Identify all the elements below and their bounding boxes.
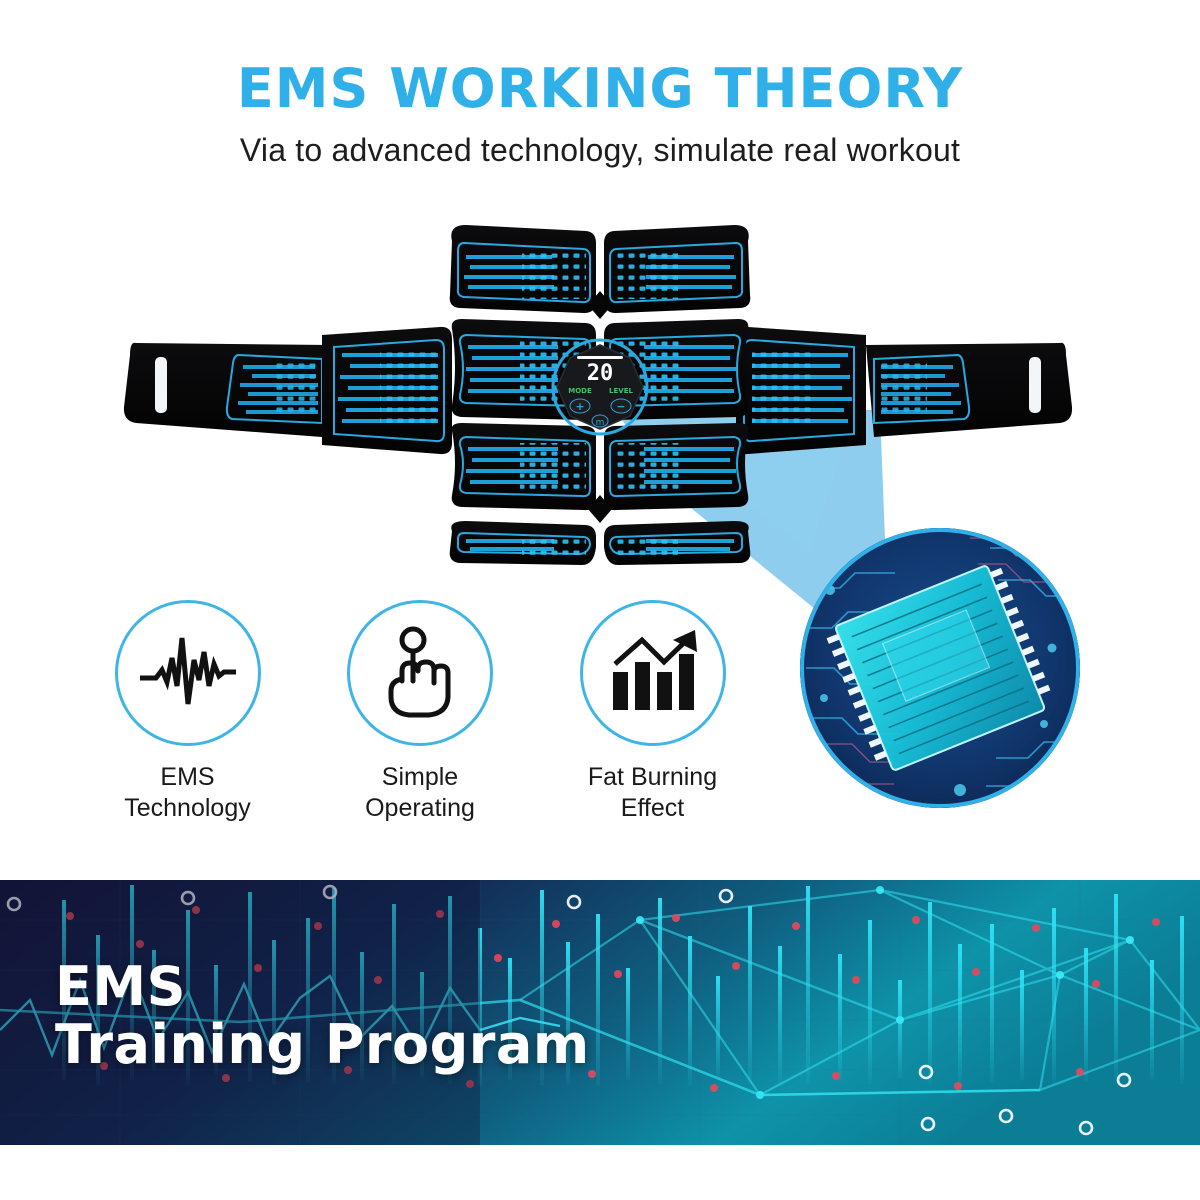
- svg-text:−: −: [616, 400, 625, 413]
- product-infographic: EMS WORKING THEORY Via to advanced techn…: [0, 0, 1200, 1200]
- right-arm-pad: [866, 343, 1072, 437]
- page-subtitle: Via to advanced technology, simulate rea…: [0, 116, 1200, 166]
- abs-pad-top-right: [604, 225, 750, 313]
- left-wing-pad: [322, 327, 452, 454]
- abs-pad-bottom-right: [604, 521, 750, 565]
- waveform-icon: [136, 630, 240, 716]
- abs-pad-top-left: [450, 225, 596, 313]
- growth-chart-icon: [605, 628, 701, 718]
- controller-display-value: 20: [587, 361, 614, 386]
- tap-hand-icon: [377, 625, 463, 721]
- feature-ring: [580, 600, 726, 746]
- feature-label: Simple Operating: [333, 762, 508, 823]
- controller-level-label: LEVEL: [609, 387, 633, 395]
- controller-display-bar: [577, 356, 623, 359]
- feature-fat-burning-effect[interactable]: Fat Burning Effect: [565, 600, 740, 830]
- feature-label: Fat Burning Effect: [565, 762, 740, 823]
- feature-ring: [115, 600, 261, 746]
- controller-mode-label: MODE: [568, 387, 592, 395]
- page-title: EMS WORKING THEORY: [0, 0, 1200, 116]
- ems-training-banner: EMS Training Program: [0, 880, 1200, 1145]
- svg-text:+: +: [575, 400, 584, 413]
- ems-device-svg: 20 MODE LEVEL + − m: [0, 195, 1200, 595]
- feature-label: EMS Technology: [100, 762, 275, 823]
- abs-pad-bottom-left: [450, 521, 596, 565]
- feature-list: EMS Technology Simple: [100, 600, 740, 830]
- abs-pad-lower-right: [604, 423, 748, 510]
- banner-title: EMS Training Program: [55, 958, 590, 1075]
- feature-ring: [347, 600, 493, 746]
- svg-text:m: m: [596, 418, 605, 428]
- abs-pad-lower-left: [452, 423, 596, 510]
- left-arm-pad: [124, 343, 330, 437]
- banner-line-2: Training Program: [55, 1016, 590, 1074]
- magnified-circuit-board: [800, 528, 1080, 808]
- feature-ems-technology[interactable]: EMS Technology: [100, 600, 275, 830]
- header: EMS WORKING THEORY Via to advanced techn…: [0, 0, 1200, 166]
- device-illustration: 20 MODE LEVEL + − m: [0, 195, 1200, 595]
- feature-simple-operating[interactable]: Simple Operating: [333, 600, 508, 830]
- controller-unit: 20 MODE LEVEL + − m: [553, 340, 647, 434]
- banner-line-1: EMS: [55, 958, 590, 1016]
- right-wing-pad: [736, 327, 866, 454]
